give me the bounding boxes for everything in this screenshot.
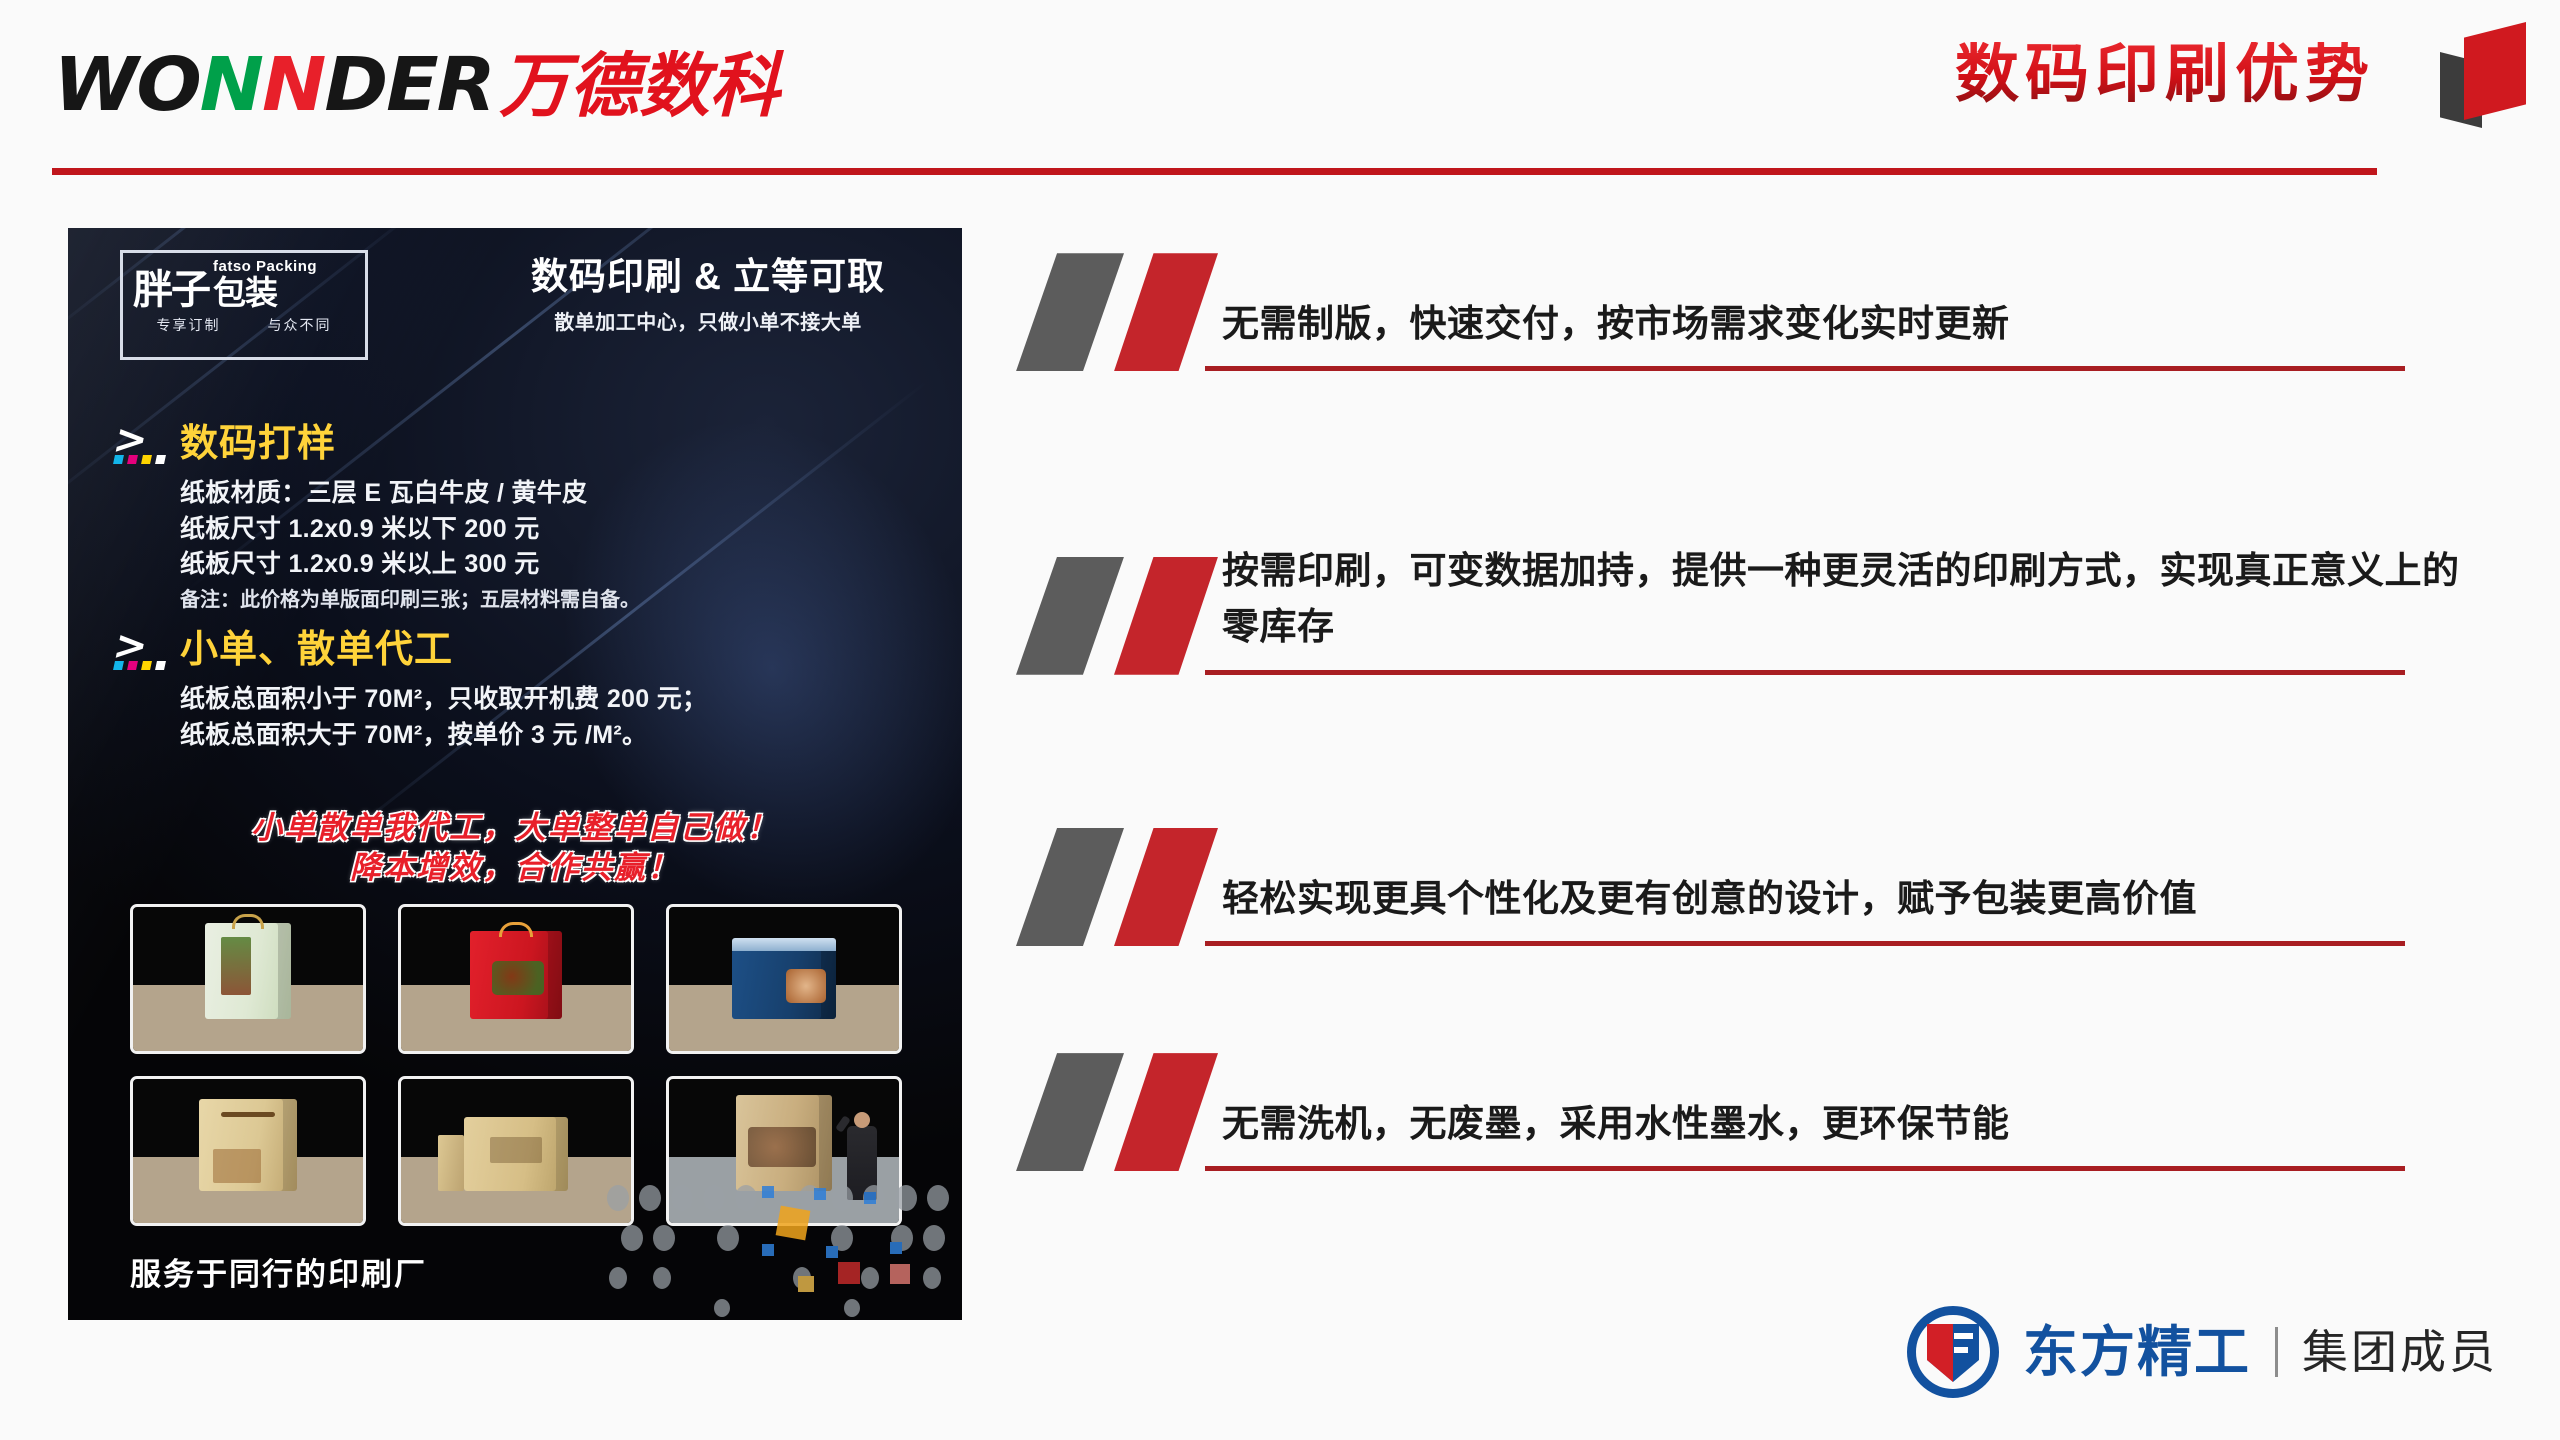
advantage-text: 无需洗机，无废墨，采用水性墨水，更环保节能 bbox=[1222, 1096, 2490, 1166]
product-photo-red-food-gift-box bbox=[398, 904, 634, 1054]
poster-section-digital-proofing: > 数码打样 纸板材质：三层 E 瓦白牛皮 / 黄牛皮 纸板尺寸 1.2x0.9… bbox=[112, 420, 932, 615]
carton-shape bbox=[736, 1095, 832, 1191]
page-title: 数码印刷优势 bbox=[1955, 42, 2375, 106]
poster-section-small-order-oem: > 小单、散单代工 纸板总面积小于 70M²，只收取开机费 200 元； 纸板总… bbox=[112, 626, 932, 753]
wonder-logo: WONNDER 万德数科 bbox=[62, 48, 779, 122]
fatso-logo-cn2: 包装 bbox=[213, 276, 317, 309]
cmyk-square-magenta bbox=[127, 661, 138, 670]
bullet-marker-gray bbox=[1016, 1053, 1124, 1171]
wonder-wordmark: WONNDER bbox=[54, 48, 494, 122]
cmyk-square-cyan bbox=[113, 661, 124, 670]
footer-company-name: 东方精工 bbox=[2023, 1325, 2251, 1380]
poster-headline: 数码印刷 & 立等可取 bbox=[498, 256, 918, 299]
product-photo-honey-gift-box bbox=[130, 904, 366, 1054]
wonder-n-red: N bbox=[262, 42, 324, 128]
bullet-marker-red bbox=[1114, 1053, 1218, 1171]
product-photo-classic-gift-box-pair bbox=[398, 1076, 634, 1226]
section-line: 纸板尺寸 1.2x0.9 米以上 300 元 bbox=[180, 547, 932, 583]
wonder-logo-cn: 万德数科 bbox=[499, 51, 779, 121]
advantage-underline bbox=[1205, 366, 2405, 371]
book-decoration-icon bbox=[2428, 8, 2538, 128]
cmyk-square-white bbox=[155, 455, 166, 464]
book-decoration-red-panel bbox=[2464, 22, 2526, 120]
carton-shape bbox=[732, 949, 836, 1019]
logo-shield-bar-bottom bbox=[1954, 1347, 1968, 1353]
footer-member-label: 集团成员 bbox=[2302, 1329, 2498, 1375]
poster-slogan-line1: 小单散单我代工，大单整单自己做！ bbox=[68, 808, 962, 848]
fatso-tag-right: 与众不同 bbox=[268, 315, 332, 335]
section-line: 纸板总面积大于 70M²，按单价 3 元 /M²。 bbox=[180, 718, 932, 754]
advantage-item-1: 无需制版，快速交付，按市场需求变化实时更新 bbox=[1010, 296, 2490, 371]
carton-shape bbox=[470, 931, 562, 1019]
bullet-marker-icon bbox=[1010, 253, 1205, 371]
wonder-der: DER bbox=[324, 42, 493, 128]
advantage-item-3: 轻松实现更具个性化及更有创意的设计，赋予包装更高价值 bbox=[1010, 871, 2490, 946]
wonder-n-green: N bbox=[200, 42, 262, 128]
promo-poster-image: 胖子 fatso Packing 包装 专享订制 与众不同 数码印刷 & 立等可… bbox=[68, 228, 962, 1320]
advantage-item-2: 按需印刷，可变数据加持，提供一种更灵活的印刷方式，实现真正意义上的零库存 bbox=[1010, 543, 2490, 674]
cmyk-square-white bbox=[155, 661, 166, 670]
advantage-text: 按需印刷，可变数据加持，提供一种更灵活的印刷方式，实现真正意义上的零库存 bbox=[1222, 543, 2490, 669]
dot-pattern-decoration bbox=[602, 1180, 962, 1320]
fatso-packing-logo: 胖子 fatso Packing 包装 专享订制 与众不同 bbox=[120, 250, 368, 360]
poster-caption: 服务于同行的印刷厂 bbox=[130, 1249, 427, 1294]
section-line: 纸板总面积小于 70M²，只收取开机费 200 元； bbox=[180, 682, 932, 718]
bullet-marker-icon bbox=[1010, 557, 1205, 675]
dongfang-jinggong-logo-icon bbox=[1907, 1306, 1999, 1398]
chevron-cmyk-icon: > bbox=[112, 420, 168, 468]
bullet-marker-gray bbox=[1016, 253, 1124, 371]
poster-photo-grid bbox=[130, 904, 900, 1226]
cmyk-square-yellow bbox=[141, 661, 152, 670]
product-photo-kraft-paper-bag bbox=[130, 1076, 366, 1226]
poster-subheadline: 散单加工中心，只做小单不接大单 bbox=[498, 306, 918, 335]
product-photo-beef-dumpling-carton bbox=[666, 904, 902, 1054]
section-title: 小单、散单代工 bbox=[180, 631, 453, 669]
bullet-marker-icon bbox=[1010, 828, 1205, 946]
section-line: 纸板材质：三层 E 瓦白牛皮 / 黄牛皮 bbox=[180, 476, 932, 512]
bullet-marker-red bbox=[1114, 557, 1218, 675]
carton-shape bbox=[205, 923, 291, 1019]
advantage-item-4: 无需洗机，无废墨，采用水性墨水，更环保节能 bbox=[1010, 1096, 2490, 1171]
poster-slogan: 小单散单我代工，大单整单自己做！ 降本增效，合作共赢！ bbox=[68, 808, 962, 889]
poster-headline-group: 数码印刷 & 立等可取 散单加工中心，只做小单不接大单 bbox=[498, 256, 918, 335]
section-title: 数码打样 bbox=[180, 425, 336, 463]
advantage-underline bbox=[1205, 670, 2405, 675]
bullet-marker-gray bbox=[1016, 828, 1124, 946]
carton-shape bbox=[199, 1099, 297, 1191]
header-divider bbox=[52, 168, 2377, 175]
cmyk-square-magenta bbox=[127, 455, 138, 464]
cmyk-square-cyan bbox=[113, 455, 124, 464]
footer-divider bbox=[2275, 1327, 2278, 1377]
logo-shield-bar-top bbox=[1954, 1333, 1973, 1339]
advantage-text: 轻松实现更具个性化及更有创意的设计，赋予包装更高价值 bbox=[1222, 871, 2490, 941]
slide-header: WONNDER 万德数科 数码印刷优势 bbox=[0, 0, 2560, 175]
bullet-marker-icon bbox=[1010, 1053, 1205, 1171]
footer-branding: 东方精工 集团成员 bbox=[1907, 1306, 2498, 1398]
bullet-marker-gray bbox=[1016, 557, 1124, 675]
bullet-marker-red bbox=[1114, 253, 1218, 371]
fatso-logo-cn: 胖子 bbox=[133, 271, 209, 309]
poster-slogan-line2: 降本增效，合作共赢！ bbox=[68, 848, 962, 888]
advantage-underline bbox=[1205, 941, 2405, 946]
carton-shape bbox=[464, 1117, 568, 1191]
chevron-right-icon: > bbox=[110, 626, 152, 666]
bullet-marker-red bbox=[1114, 828, 1218, 946]
fatso-tag-left: 专享订制 bbox=[157, 315, 221, 335]
advantages-list: 无需制版，快速交付，按市场需求变化实时更新 按需印刷，可变数据加持，提供一种更灵… bbox=[1010, 250, 2490, 1171]
wonder-wo: WO bbox=[54, 42, 200, 128]
advantage-text: 无需制版，快速交付，按市场需求变化实时更新 bbox=[1222, 296, 2490, 366]
section-note: 备注：此价格为单版面印刷三张；五层材料需自备。 bbox=[180, 586, 932, 615]
chevron-cmyk-icon: > bbox=[112, 626, 168, 674]
section-line: 纸板尺寸 1.2x0.9 米以下 200 元 bbox=[180, 512, 932, 548]
chevron-right-icon: > bbox=[110, 420, 152, 460]
cmyk-square-yellow bbox=[141, 455, 152, 464]
advantage-underline bbox=[1205, 1166, 2405, 1171]
